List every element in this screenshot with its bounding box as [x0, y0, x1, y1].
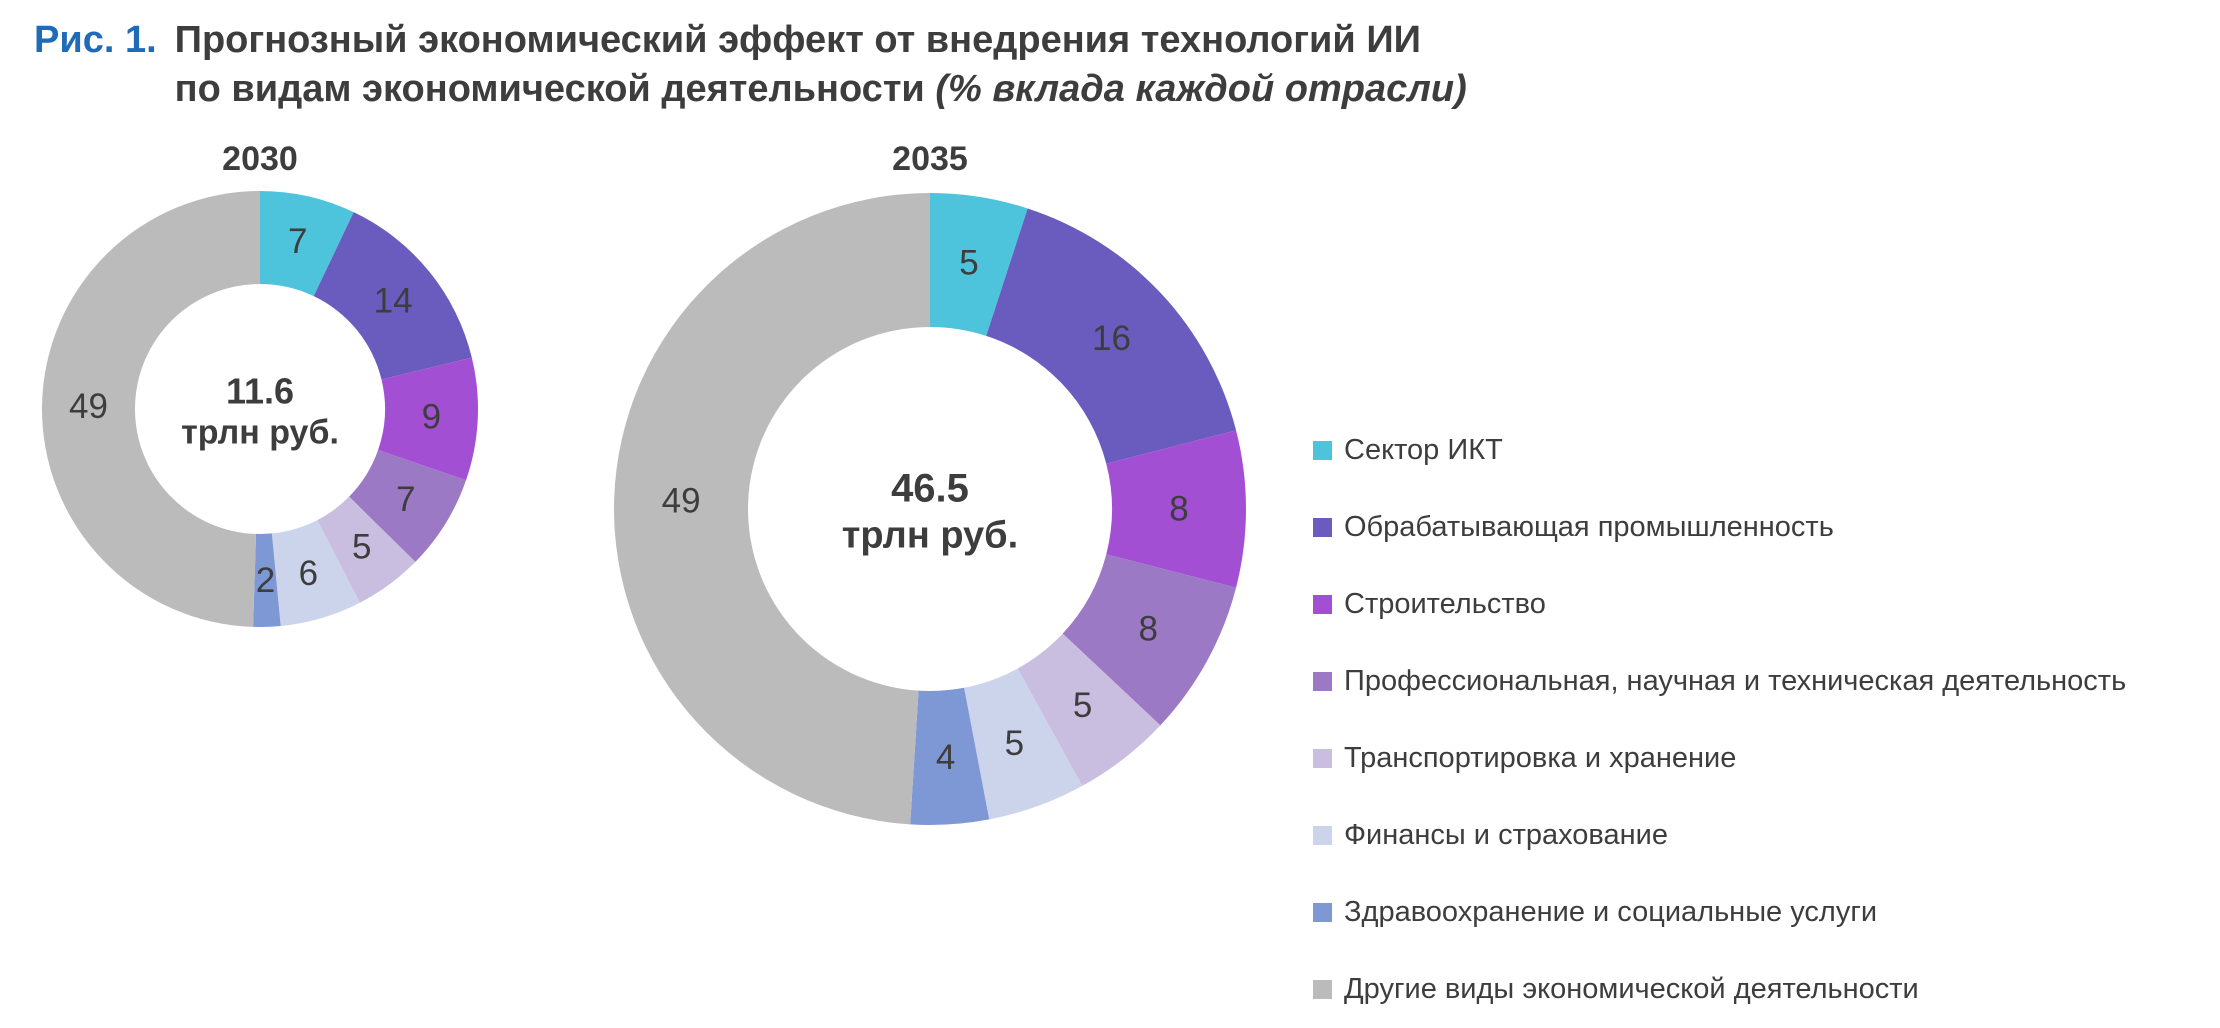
legend-item[interactable]: Обрабатывающая промышленность [1313, 489, 2213, 566]
legend-swatch-icon [1313, 518, 1332, 537]
donut-slice-value-label: 7 [288, 222, 307, 261]
donut-svg-2035: 5168855449 [610, 189, 1250, 829]
legend-item-label: Профессиональная, научная и техническая … [1344, 665, 2126, 698]
donut-slice-value-label: 5 [1073, 686, 1092, 725]
donut-year-label-2035: 2035 [610, 140, 1250, 179]
title-line-1: Прогнозный экономический эффект от внедр… [175, 19, 1421, 61]
donut-slice-value-label: 6 [299, 554, 318, 593]
donut-slice-value-label: 49 [662, 482, 701, 521]
donut-svg-holder-2030: 7149756249 11.6 трлн руб. [40, 189, 480, 634]
legend-item[interactable]: Профессиональная, научная и техническая … [1313, 643, 2213, 720]
legend-item-label: Другие виды экономической деятельности [1344, 973, 1919, 1006]
legend-swatch-icon [1313, 903, 1332, 922]
legend-swatch-icon [1313, 980, 1332, 999]
donut-year-label-2030: 2030 [40, 140, 480, 179]
legend-swatch-icon [1313, 749, 1332, 768]
legend-item[interactable]: Сектор ИКТ [1313, 412, 2213, 489]
donut-chart-2035: 2035 5168855449 46.5 трлн руб. [610, 140, 1250, 834]
legend-item[interactable]: Финансы и страхование [1313, 797, 2213, 874]
figure-header: Рис. 1. Прогнозный экономический эффект … [34, 16, 1467, 113]
donut-slice-value-label: 7 [396, 480, 415, 519]
donut-chart-2030: 2030 7149756249 11.6 трлн руб. [40, 140, 480, 634]
legend-item-label: Финансы и страхование [1344, 819, 1668, 852]
chart-legend: Сектор ИКТОбрабатывающая промышленностьС… [1313, 412, 2213, 1028]
legend-item[interactable]: Здравоохранение и социальные услуги [1313, 874, 2213, 951]
donut-slice-value-label: 14 [374, 281, 413, 320]
donut-svg-holder-2035: 5168855449 46.5 трлн руб. [610, 189, 1250, 834]
donut-slice-value-label: 4 [936, 738, 955, 777]
page-title: Прогнозный экономический эффект от внедр… [175, 16, 1467, 113]
donut-slice-value-label: 5 [959, 244, 978, 283]
legend-item-label: Строительство [1344, 588, 1546, 621]
donut-slice-value-label: 5 [1005, 724, 1024, 763]
legend-swatch-icon [1313, 595, 1332, 614]
legend-item[interactable]: Транспортировка и хранение [1313, 720, 2213, 797]
donut-slice-value-label: 5 [352, 528, 371, 567]
donut-slice-value-label: 8 [1138, 609, 1157, 648]
donut-slice-value-label: 16 [1092, 319, 1131, 358]
donut-slice-value-label: 8 [1169, 490, 1188, 529]
charts-container: 2030 7149756249 11.6 трлн руб. 2035 5168… [0, 140, 2220, 920]
legend-swatch-icon [1313, 826, 1332, 845]
legend-item[interactable]: Строительство [1313, 566, 2213, 643]
donut-slice-value-label: 2 [256, 561, 275, 600]
legend-item-label: Транспортировка и хранение [1344, 742, 1736, 775]
donut-svg-2030: 7149756249 [40, 189, 480, 629]
title-line-2: по видам экономической деятельности [175, 68, 925, 110]
legend-swatch-icon [1313, 672, 1332, 691]
legend-item[interactable]: Другие виды экономической деятельности [1313, 951, 2213, 1028]
legend-item-label: Здравоохранение и социальные услуги [1344, 896, 1877, 929]
legend-swatch-icon [1313, 441, 1332, 460]
donut-slice-value-label: 9 [422, 398, 441, 437]
figure-number: Рис. 1. [34, 16, 157, 65]
legend-item-label: Сектор ИКТ [1344, 434, 1503, 467]
donut-slice-value-label: 49 [69, 387, 108, 426]
title-note: (% вклада каждой отрасли) [935, 68, 1466, 110]
legend-item-label: Обрабатывающая промышленность [1344, 511, 1834, 544]
